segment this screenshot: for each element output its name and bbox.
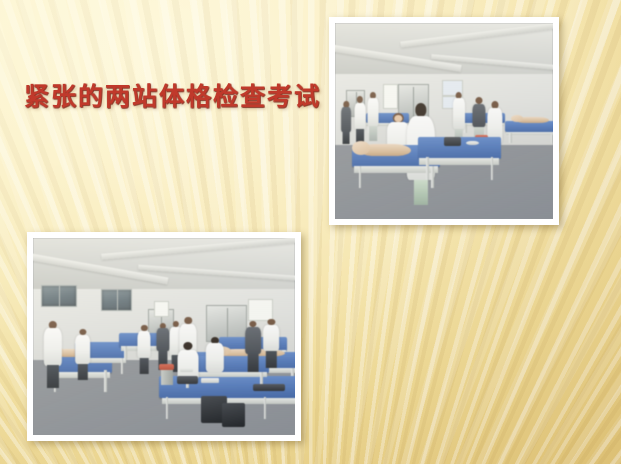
- photo-frame-bottom-left[interactable]: [27, 232, 301, 441]
- presentation-slide: 紧张的两站体格检查考试: [0, 0, 621, 464]
- photo-frame-top-right[interactable]: [329, 17, 559, 225]
- photo-image-top-right: [335, 23, 553, 219]
- photo-image-bottom-left: [33, 238, 295, 435]
- slide-title: 紧张的两站体格检查考试: [24, 83, 314, 111]
